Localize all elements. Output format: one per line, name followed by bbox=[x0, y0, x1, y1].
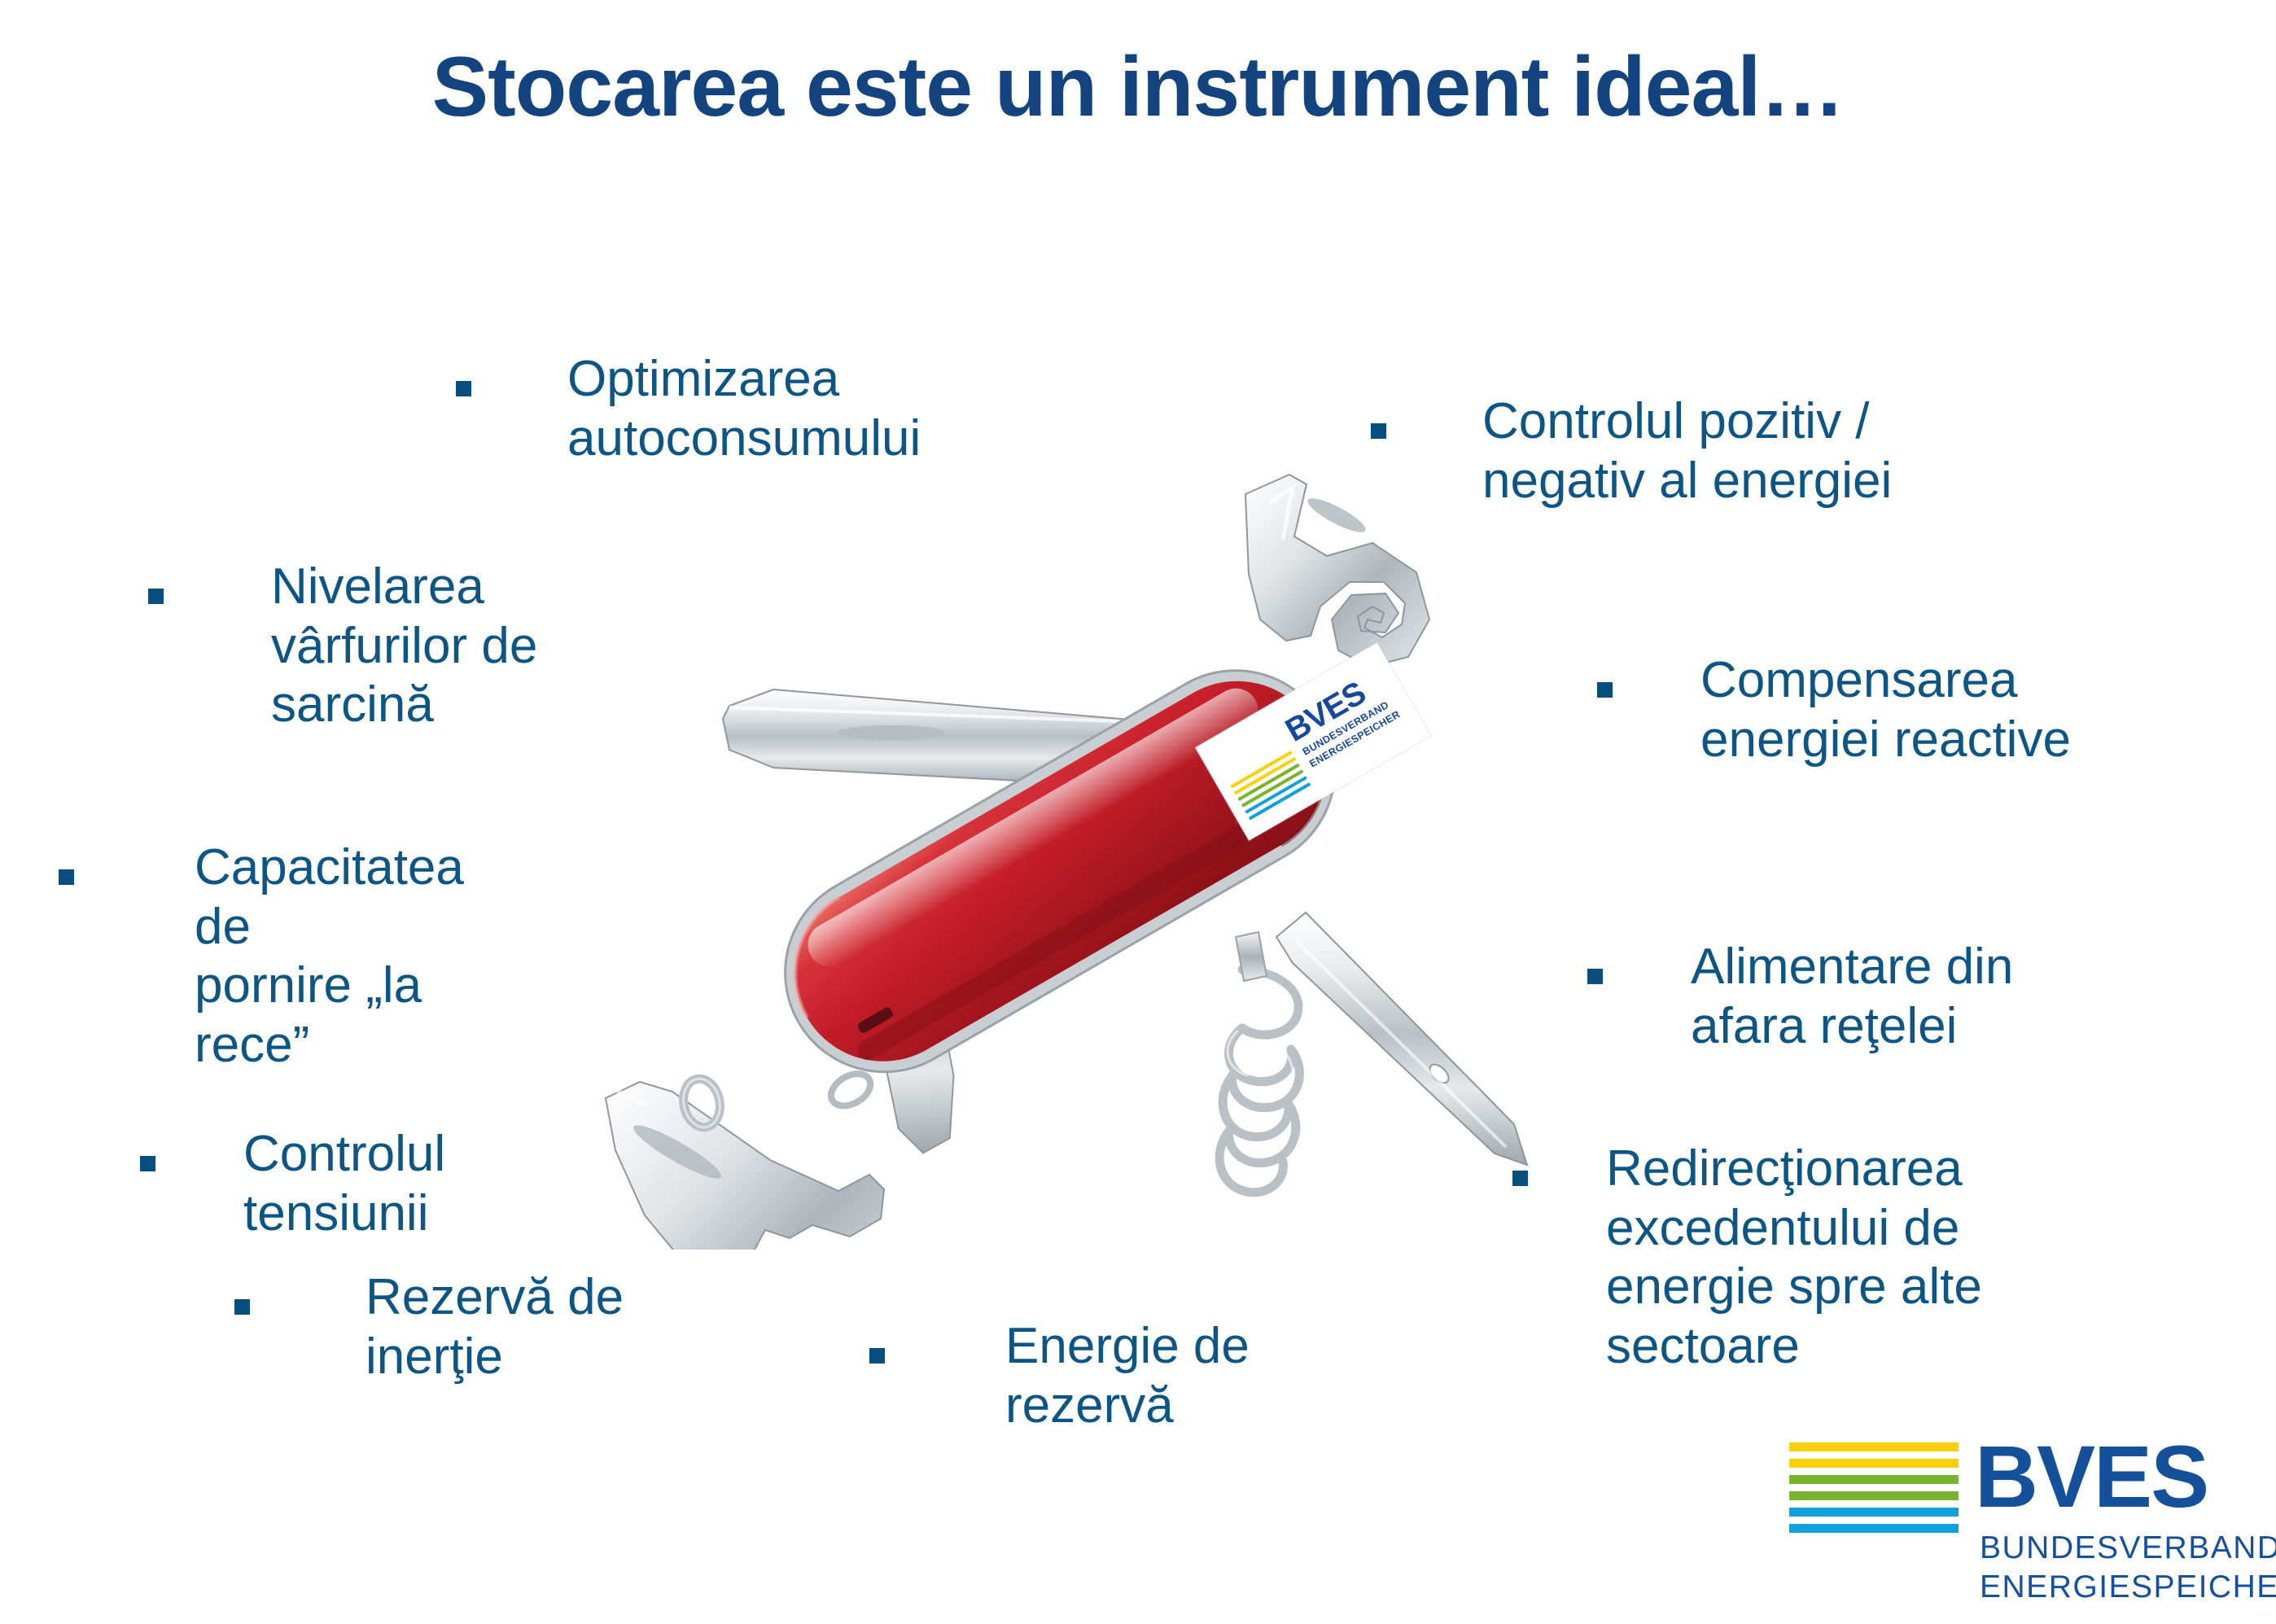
bullet-energie-de-rezerva: Energie derezervă bbox=[869, 1317, 1293, 1435]
bullet-controlul-tensiunii: Controlultensiunii bbox=[140, 1125, 547, 1243]
bullet-label: Controlultensiunii bbox=[243, 1125, 445, 1243]
bullet-square-icon bbox=[59, 869, 74, 885]
bullet-label: Alimentare dinafara reţelei bbox=[1691, 938, 2013, 1056]
bullet-redirectionarea-excedentului: Redirecţionareaexcedentului deenergie sp… bbox=[1512, 1140, 2099, 1376]
bullet-alimentare-din-afara-retelei: Alimentare dinafara reţelei bbox=[1587, 938, 2157, 1056]
slide-canvas: Stocarea este un instrument ideal… bbox=[0, 0, 2276, 1624]
bves-logo-line2: ENERGIESPEICHER bbox=[1980, 1569, 2276, 1606]
bullet-square-icon bbox=[456, 381, 471, 396]
bullet-optimizarea-autoconsumului: Optimizareaautoconsumului bbox=[456, 350, 961, 468]
bullet-square-icon bbox=[1371, 423, 1386, 439]
bullet-compensarea-energiei-reactive: Compensareaenergiei reactive bbox=[1597, 651, 2167, 769]
bullet-label: Optimizareaautoconsumului bbox=[567, 350, 921, 468]
bullet-square-icon bbox=[869, 1348, 885, 1364]
bullet-square-icon bbox=[1597, 682, 1613, 698]
bullet-label: Nivelareavârfurilor desarcină bbox=[271, 558, 537, 735]
bullet-nivelarea-varfurilor: Nivelareavârfurilor desarcină bbox=[148, 558, 571, 735]
bullet-label: Energie derezervă bbox=[1005, 1317, 1250, 1435]
bullet-square-icon bbox=[148, 589, 164, 604]
bves-logo-bars bbox=[1789, 1442, 1959, 1540]
bullet-capacitatea-pornire-la-rece: Capacitatea depornire „larece” bbox=[59, 838, 514, 1075]
bves-footer-logo: BVES BUNDESVERBAND ENERGIESPEICHER bbox=[1789, 1439, 2245, 1602]
bullet-label: Rezervă deinerţie bbox=[365, 1268, 624, 1386]
bullet-rezerva-de-inertie: Rezervă deinerţie bbox=[234, 1268, 658, 1386]
bullet-controlul-pozitiv-negativ: Controlul pozitiv /negativ al energiei bbox=[1371, 392, 1941, 510]
bullet-label: Redirecţionareaexcedentului deenergie sp… bbox=[1606, 1140, 1982, 1376]
bullet-square-icon bbox=[140, 1156, 155, 1171]
page-title: Stocarea este un instrument ideal… bbox=[0, 39, 2276, 136]
bullet-square-icon bbox=[1512, 1171, 1528, 1186]
bves-logo-line1: BUNDESVERBAND bbox=[1980, 1530, 2276, 1567]
swiss-army-knife-illustration bbox=[570, 452, 1530, 1250]
bullet-square-icon bbox=[234, 1299, 250, 1315]
bullet-square-icon bbox=[1587, 969, 1603, 984]
bullet-label: Controlul pozitiv /negativ al energiei bbox=[1482, 392, 1892, 510]
bullet-label: Compensareaenergiei reactive bbox=[1700, 651, 2071, 769]
bves-logo-wordmark: BVES bbox=[1975, 1433, 2208, 1521]
bullet-label: Capacitatea depornire „larece” bbox=[195, 838, 514, 1075]
